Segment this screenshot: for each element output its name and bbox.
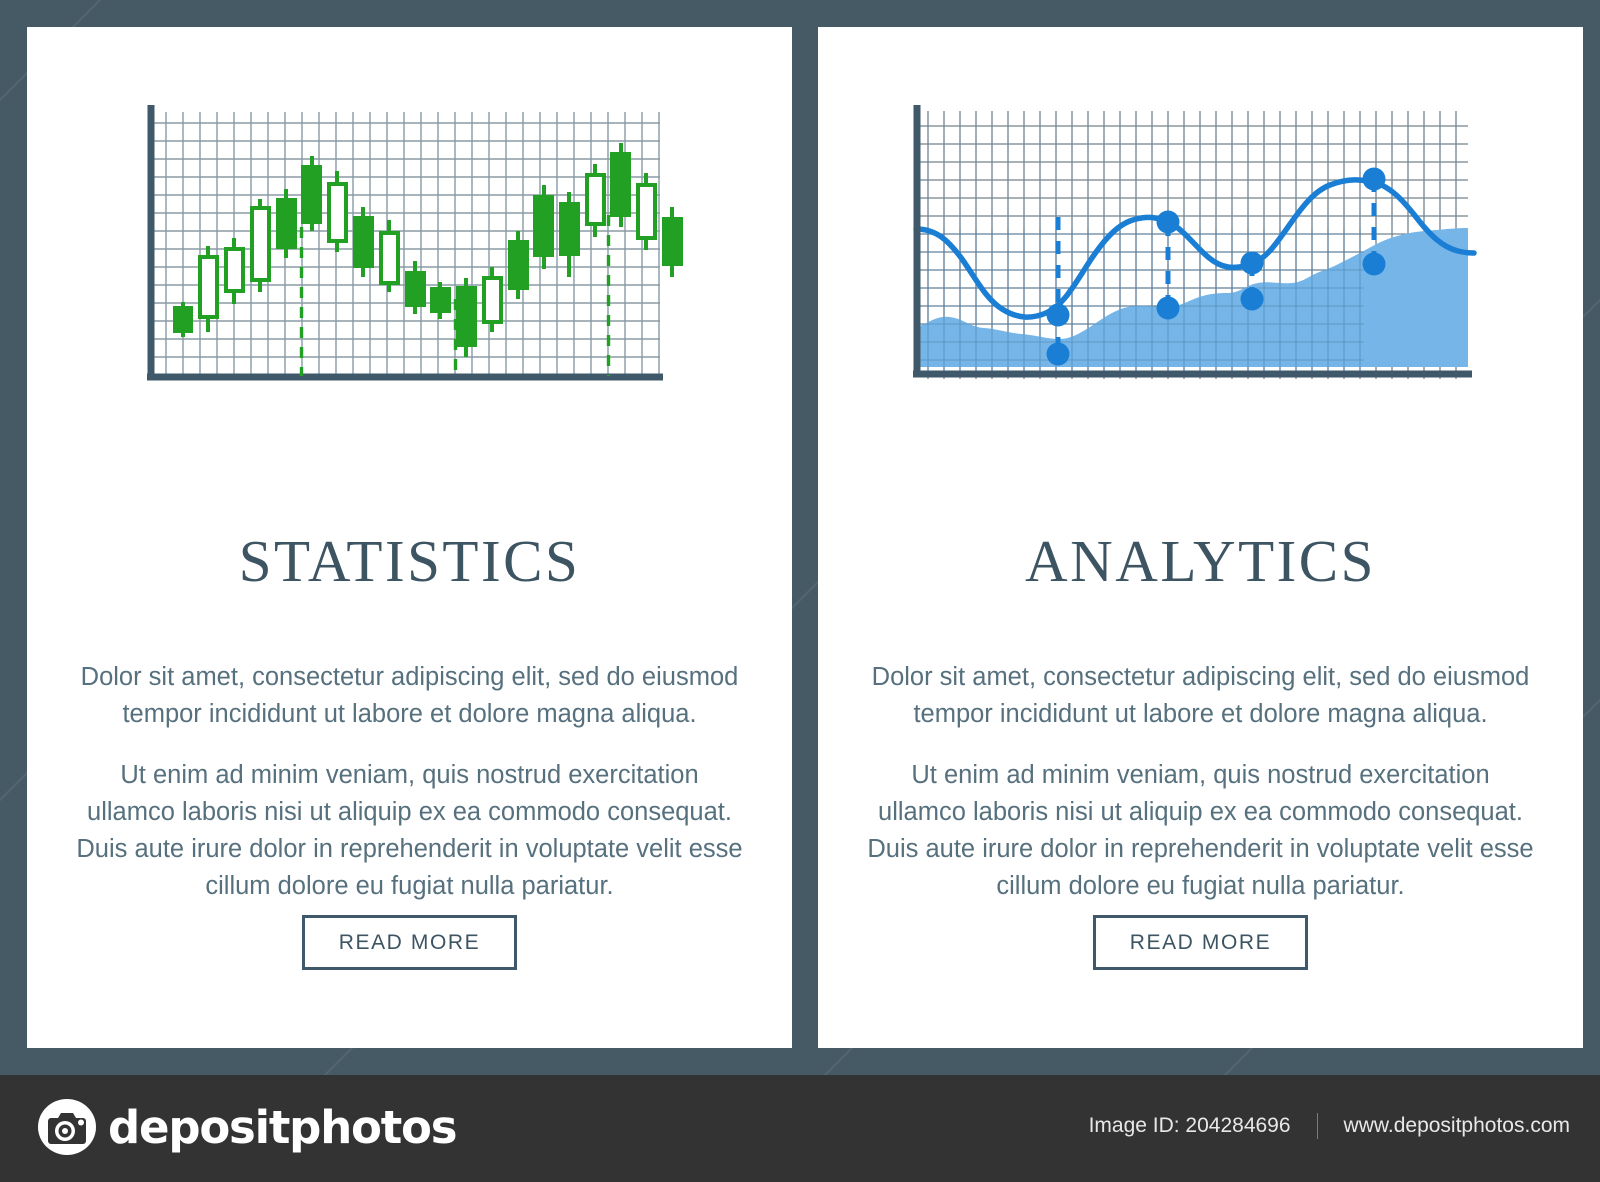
footer-meta: Image ID: 204284696 www.depositphotos.co… xyxy=(1089,1113,1570,1139)
brand-name: depositphotos xyxy=(108,1105,456,1150)
read-more-button[interactable]: READ MORE xyxy=(302,915,518,970)
brand-logo: depositphotos xyxy=(38,1098,456,1156)
card-paragraph-1: Dolor sit amet, consectetur adipiscing e… xyxy=(866,659,1535,733)
card-statistics: STATISTICS Dolor sit amet, consectetur a… xyxy=(27,27,792,1048)
read-more-row: READ MORE xyxy=(818,915,1583,970)
footer-divider xyxy=(1317,1113,1318,1139)
page-title: ANALYTICS xyxy=(818,532,1583,591)
read-more-row: READ MORE xyxy=(27,915,792,970)
card-paragraph-2: Ut enim ad minim veniam, quis nostrud ex… xyxy=(866,757,1535,905)
chart-axes xyxy=(147,105,663,379)
marker-point-2-bottom xyxy=(1157,297,1180,320)
marker-point-1-bottom xyxy=(1047,343,1070,366)
page-root: STATISTICS Dolor sit amet, consectetur a… xyxy=(0,0,1600,1182)
card-paragraph-2: Ut enim ad minim veniam, quis nostrud ex… xyxy=(75,757,744,905)
camera-icon xyxy=(38,1098,96,1156)
candlestick-chart xyxy=(27,27,792,427)
image-id-label: Image ID: 204284696 xyxy=(1089,1114,1291,1138)
marker-point-3-bottom xyxy=(1241,288,1264,311)
area-line-chart xyxy=(818,27,1583,427)
card-analytics: ANALYTICS Dolor sit amet, consectetur ad… xyxy=(818,27,1583,1048)
site-url[interactable]: www.depositphotos.com xyxy=(1344,1114,1570,1138)
marker-point-4-bottom xyxy=(1363,253,1386,276)
marker-point-3-top xyxy=(1241,252,1264,275)
marker-point-1-top xyxy=(1047,304,1070,327)
marker-point-2-top xyxy=(1157,211,1180,234)
page-title: STATISTICS xyxy=(27,532,792,591)
area-volume-series xyxy=(916,228,1468,367)
marker-point-4-top xyxy=(1363,168,1386,191)
card-paragraph-1: Dolor sit amet, consectetur adipiscing e… xyxy=(75,659,744,733)
read-more-button[interactable]: READ MORE xyxy=(1093,915,1309,970)
